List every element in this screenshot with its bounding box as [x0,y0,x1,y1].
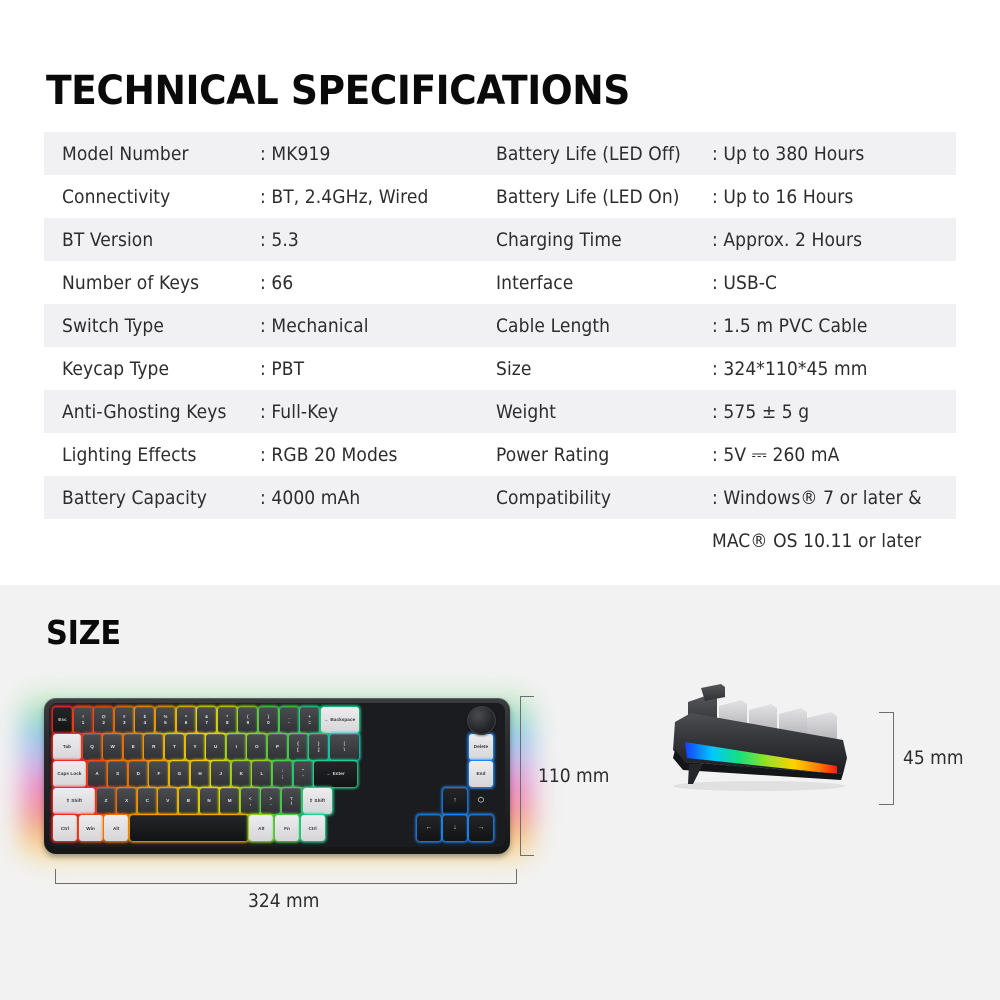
key-b[interactable]: B [179,788,198,814]
key-q[interactable]: Q [83,734,102,760]
table-row: Connectivity : BT, 2.4GHz, Wired Battery… [44,175,956,218]
key-7[interactable]: &7 [197,707,216,733]
key-f[interactable]: F [149,761,168,787]
key-legend-primary: Fn [284,826,290,831]
spec-label: Cable Length [496,304,711,347]
key-legend-primary: Win [86,826,95,831]
table-row: Number of Keys : 66 Interface : USB-C [44,261,956,304]
table-row: MAC® OS 10.11 or later [44,519,956,562]
spec-value: : PBT [260,347,490,390]
key-3[interactable]: #3 [115,707,134,733]
key-legend-primary: Caps Lock [57,771,81,776]
key-legend-secondary: > [270,796,273,801]
key-legend-primary: 1 [82,720,85,725]
spec-value: : USB-C [712,261,952,304]
key-capslock[interactable]: Caps Lock [53,761,86,787]
key-d[interactable]: D [129,761,148,787]
product-spec-page: TECHNICAL SPECIFICATIONS Model Number : … [0,0,1000,1000]
key-legend-secondary: } [318,741,320,746]
key-legend-primary: Delete [474,744,488,749]
key-legend-secondary: * [226,714,229,719]
key-legend-primary: F [157,771,160,776]
key-sym[interactable]: >. [261,788,280,814]
key-legend-primary: [ [297,747,299,752]
key-legend-primary: X [125,798,128,803]
spec-table: Model Number : MK919 Battery Life (LED O… [44,132,956,562]
height-dim-tick-top [879,712,894,713]
brand-logo-icon: ⬡ [478,797,484,805]
arrow-down-icon: ↓ [453,824,457,832]
spec-value: : Windows® 7 or later & [712,476,952,519]
key-legend-primary: 8 [226,720,229,725]
key-legend-primary: = [308,720,311,725]
key-legend-primary: Q [90,744,94,749]
width-dim-tick-left [55,869,56,884]
spec-value: : 5V ⎓ 260 mA [712,433,952,476]
key-alt[interactable]: Alt [104,815,128,841]
kickstand [688,764,703,784]
size-section: SIZE Esc!1@2#3$4%5^6&7*8(9)0_-+=← Backsp… [0,585,1000,1000]
key-legend-primary: ← Enter [327,771,345,776]
key-legend-primary: 2 [102,720,105,725]
key-legend-primary: 3 [123,720,126,725]
key-legend-secondary: ) [267,714,270,719]
key-legend-primary: L [260,771,263,776]
spec-label: Weight [496,390,711,433]
key-arrow-up[interactable]: ↑ [443,788,467,814]
key-ctrl[interactable]: Ctrl [53,815,77,841]
key-k[interactable]: K [232,761,251,787]
key-legend-primary: M [228,798,232,803]
spec-label: Model Number [62,132,262,175]
key-0[interactable]: )0 [259,707,278,733]
keyboard-side-illustration [655,680,865,800]
key-legend-primary: Alt [113,826,119,831]
key-p[interactable]: P [268,734,287,760]
key-legend-primary: H [198,771,201,776]
key-sym[interactable]: _- [280,707,299,733]
key-legend-primary: ] [318,747,320,752]
keyboard-chassis: Esc!1@2#3$4%5^6&7*8(9)0_-+=← BackspaceTa… [44,698,510,854]
key-legend-primary: , [250,801,251,806]
key-legend-primary: ← Backspace [324,717,355,722]
key-sym[interactable]: <, [241,788,260,814]
key-m[interactable]: M [220,788,239,814]
key-legend-primary: C [146,798,149,803]
key-fn[interactable]: Fn [275,815,299,841]
key-legend-primary: D [137,771,140,776]
size-heading: SIZE [46,613,121,652]
key-2[interactable]: @2 [94,707,113,733]
key-legend-secondary: | [344,741,345,746]
spec-value: : Up to 380 Hours [712,132,952,175]
key-legend-primary: Ctrl [308,826,316,831]
table-row: Keycap Type : PBT Size : 324*110*45 mm [44,347,956,390]
page-title: TECHNICAL SPECIFICATIONS [46,68,630,114]
key-r[interactable]: R [144,734,163,760]
key-legend-primary: W [110,744,114,749]
key-legend-primary: 6 [185,720,188,725]
key-legend-primary: 9 [247,720,250,725]
key-end[interactable]: End [469,761,493,787]
key-legend-primary: 5 [164,720,167,725]
key-j[interactable]: J [211,761,230,787]
key-shift[interactable]: ⇧ Shift [53,788,95,814]
spec-label: Battery Life (LED On) [496,175,711,218]
spec-value: : RGB 20 Modes [260,433,490,476]
key-sym[interactable]: "' [294,761,313,787]
key-legend-secondary: { [297,741,299,746]
key-z[interactable]: Z [97,788,116,814]
key-n[interactable]: N [200,788,219,814]
key-legend-primary: ' [302,774,303,779]
key-enter[interactable]: ← Enter [314,761,357,787]
key-t[interactable]: T [165,734,184,760]
spec-label: Charging Time [496,218,711,261]
key-legend-primary: ; [282,774,284,779]
spec-value: : 1.5 m PVC Cable [712,304,952,347]
table-row: Lighting Effects : RGB 20 Modes Power Ra… [44,433,956,476]
spec-value: : Approx. 2 Hours [712,218,952,261]
key-4[interactable]: $4 [135,707,154,733]
key-legend-primary: Esc [58,717,66,722]
spec-value: : 5.3 [260,218,490,261]
key-legend-primary: / [291,801,292,806]
arrow-left-icon: ← [425,824,432,832]
key-legend-secondary: + [308,714,311,719]
key-9[interactable]: (9 [238,707,257,733]
spec-value: : Up to 16 Hours [712,175,952,218]
key-shift[interactable]: ⇧ Shift [303,788,332,814]
key-a[interactable]: A [88,761,107,787]
key-delete[interactable]: Delete [469,734,493,760]
key-legend-primary: Alt [258,826,264,831]
key-legend-primary: P [276,744,279,749]
key-legend-secondary: ! [82,714,85,719]
key-legend-secondary: _ [288,714,290,719]
key-legend-primary: S [116,771,119,776]
height-dim-line [893,712,894,805]
depth-dim-tick-top [520,696,534,697]
key-8[interactable]: *8 [218,707,237,733]
key-legend-secondary: " [302,768,304,773]
key-w[interactable]: W [103,734,122,760]
keyboard-top-view: Esc!1@2#3$4%5^6&7*8(9)0_-+=← BackspaceTa… [22,690,532,865]
key-legend-primary: V [166,798,169,803]
spec-value: : Full-Key [260,390,490,433]
key-legend-primary: T [173,744,176,749]
key-ctrl[interactable]: Ctrl [301,815,325,841]
key-o[interactable]: O [247,734,266,760]
key-sym[interactable]: }] [309,734,328,760]
key-legend-primary: 7 [205,720,208,725]
key-legend-primary: B [187,798,190,803]
key-l[interactable]: L [252,761,271,787]
key-esc[interactable]: Esc [53,707,72,733]
spec-value: : 575 ± 5 g [712,390,952,433]
key-g[interactable]: G [170,761,189,787]
key-legend-primary: . [270,801,271,806]
spec-label: Switch Type [62,304,262,347]
key-legend-secondary: % [164,714,168,719]
spec-label: Battery Life (LED Off) [496,132,711,175]
spec-value: : Mechanical [260,304,490,347]
key-sym[interactable]: += [300,707,319,733]
spec-value: : MK919 [260,132,490,175]
key-legend-secondary: $ [144,714,147,719]
key-legend-primary: O [255,744,259,749]
key-e[interactable]: E [124,734,143,760]
key-space[interactable] [130,815,248,841]
width-dim-label: 324 mm [248,890,319,912]
table-row: BT Version : 5.3 Charging Time : Approx.… [44,218,956,261]
keyboard-side-view [655,680,865,800]
key-arrow-left[interactable]: ← [417,815,441,841]
spec-value: : 4000 mAh [260,476,490,519]
key-sym[interactable]: |\ [330,734,359,760]
key-legend-primary: A [95,771,98,776]
side-shadow [673,781,845,791]
key-legend-primary: \ [344,747,345,752]
key-legend-primary: E [132,744,135,749]
key-sym[interactable]: ?/ [282,788,301,814]
arrow-right-icon: → [477,824,484,832]
key-arrow-right[interactable]: → [469,815,493,841]
key-legend-primary: U [214,744,217,749]
key-legend-primary: 0 [267,720,270,725]
key-legend-secondary: ? [290,796,293,801]
height-dim-label: 45 mm [903,747,963,769]
key-6[interactable]: ^6 [177,707,196,733]
spec-label: Compatibility [496,476,711,519]
spec-value: : 324*110*45 mm [712,347,952,390]
spec-label: Lighting Effects [62,433,262,476]
technical-specifications-section: TECHNICAL SPECIFICATIONS Model Number : … [0,0,1000,585]
key-sym[interactable]: :; [273,761,292,787]
spec-label: Battery Capacity [62,476,262,519]
key-tab[interactable]: Tab [53,734,81,760]
width-dim-line [55,883,517,884]
width-dim-tick-right [516,869,517,884]
key-u[interactable]: U [206,734,225,760]
spec-label: Power Rating [496,433,711,476]
key-legend-primary: Ctrl [61,826,69,831]
key-alt[interactable]: Alt [249,815,273,841]
keyboard-plate: Esc!1@2#3$4%5^6&7*8(9)0_-+=← BackspaceTa… [49,703,505,847]
table-row: Model Number : MK919 Battery Life (LED O… [44,132,956,175]
key-x[interactable]: X [117,788,136,814]
key-legend-secondary: < [249,796,252,801]
volume-knob[interactable] [467,706,496,735]
key-legend-secondary: @ [102,714,106,719]
key-legend-primary: K [240,771,243,776]
key-legend-primary: End [477,771,486,776]
key-legend-primary: Tab [63,744,71,749]
height-dim-tick-bottom [879,804,894,805]
key-legend-secondary: # [123,714,126,719]
key-legend-secondary: : [282,768,284,773]
depth-dim-line [520,696,521,856]
key-arrow-down[interactable]: ↓ [443,815,467,841]
key-win[interactable]: Win [79,815,103,841]
key-legend-primary: N [207,798,210,803]
key-legend-primary: Z [105,798,108,803]
spec-label: Keycap Type [62,347,262,390]
key-legend-primary: ⇧ Shift [66,798,82,803]
table-row: Switch Type : Mechanical Cable Length : … [44,304,956,347]
table-row: Battery Capacity : 4000 mAh Compatibilit… [44,476,956,519]
key-legend-primary: R [152,744,155,749]
spec-value-continued: MAC® OS 10.11 or later [712,519,952,562]
spec-value: : BT, 2.4GHz, Wired [260,175,490,218]
key-legend-primary: J [219,771,222,776]
table-row: Anti-Ghosting Keys : Full-Key Weight : 5… [44,390,956,433]
key-c[interactable]: C [138,788,157,814]
key-h[interactable]: H [191,761,210,787]
key-legend-primary: G [178,771,182,776]
key-i[interactable]: I [227,734,246,760]
key-legend-primary: I [236,744,237,749]
key-legend-primary: - [288,720,290,725]
key-5[interactable]: %5 [156,707,175,733]
key-legend-secondary: ( [247,714,250,719]
key-1[interactable]: !1 [74,707,93,733]
spec-label: Interface [496,261,711,304]
arrow-up-icon: ↑ [453,797,457,805]
key-legend-secondary: ^ [185,714,188,719]
depth-dim-tick-bottom [520,855,534,856]
spec-label: BT Version [62,218,262,261]
key-legend-secondary: & [205,714,208,719]
spec-label: Connectivity [62,175,262,218]
key-s[interactable]: S [108,761,127,787]
spec-label: Size [496,347,711,390]
key-sym[interactable]: {[ [289,734,308,760]
key-legend-primary: 4 [144,720,147,725]
spec-label: Anti-Ghosting Keys [62,390,262,433]
key-brand-logo-icon[interactable]: ⬡ [469,788,493,814]
key-v[interactable]: V [158,788,177,814]
spec-label: Number of Keys [62,261,262,304]
key-legend-primary: ⇧ Shift [309,798,325,803]
key-y[interactable]: Y [186,734,205,760]
depth-dim-label: 110 mm [538,765,609,787]
spec-value: : 66 [260,261,490,304]
key-legend-primary: Y [194,744,197,749]
key-backspace[interactable]: ← Backspace [321,707,359,733]
